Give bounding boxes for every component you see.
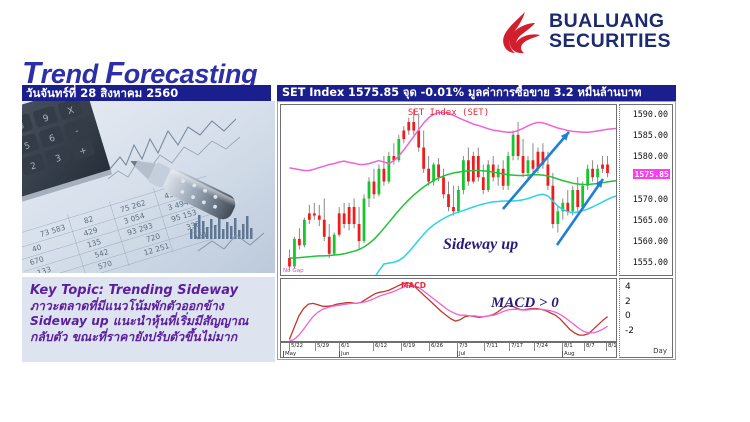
- date-tick: 5/29: [315, 343, 329, 351]
- no-gap-label: No Gap: [283, 268, 304, 274]
- date-tick: 6/26: [429, 343, 443, 351]
- price-axis: 1590.001585.001580.001570.001565.001560.…: [619, 104, 673, 276]
- macd-axis: Day 420-2: [619, 278, 673, 358]
- date-bar: วันจันทร์ที่ 28 สิงหาคม 2560: [22, 85, 271, 101]
- brand-logo: BUALUANG SECURITIES: [497, 8, 727, 58]
- date-tick: 6/19: [401, 343, 415, 351]
- date-tick: 5/22: [289, 343, 303, 351]
- date-tick: 7/3: [457, 343, 468, 351]
- month-tick: Jul: [457, 351, 466, 358]
- date-tick: 6/1: [339, 343, 350, 351]
- macd-title: MACD: [401, 281, 426, 290]
- set-index-bar: SET Index 1575.85 จุด -0.01% มูลค่าการซื…: [277, 85, 676, 101]
- bualuang-lotus-icon: [497, 10, 543, 56]
- date-tick: 8/15: [606, 343, 617, 351]
- macd-tick: 0: [625, 311, 631, 321]
- financial-report-photo: 789X 456- 123+ 73 5838275 262456 404293 …: [22, 101, 275, 273]
- date-tick: 7/24: [534, 343, 548, 351]
- price-tick: 1590.00: [633, 109, 668, 119]
- date-axis: 5/225/296/16/126/196/267/37/117/177/248/…: [280, 342, 617, 358]
- slide-root: BUALUANG SECURITIES Trend Forecasting วั…: [0, 0, 750, 422]
- macd-plot: [281, 279, 616, 341]
- chart-container[interactable]: SET Index (SET) Sideway up No Gap 1590.0…: [277, 101, 676, 360]
- month-tick: Jun: [339, 351, 349, 358]
- date-tick: 8/1: [562, 343, 573, 351]
- x-axis-unit-label: Day: [653, 347, 667, 355]
- month-tick: May: [283, 351, 296, 358]
- key-topic-line-4: กลับตัว ขณะที่ราคายังปรับตัวขึ้นไม่มาก: [30, 330, 267, 346]
- key-topic-box: Key Topic: Trending Sideway ภาวะตลาดที่ม…: [22, 277, 275, 362]
- macd-pane[interactable]: MACD MACD > 0: [280, 278, 617, 342]
- price-tick: 1565.00: [633, 215, 668, 225]
- price-chart-pane[interactable]: SET Index (SET) Sideway up No Gap: [280, 104, 617, 276]
- key-topic-heading: Key Topic: Trending Sideway: [30, 283, 267, 299]
- key-topic-line-2: ภาวะตลาดที่มีแนวโน้มพักตัวออกข้าง: [30, 299, 267, 315]
- annotation-sideway-up: Sideway up: [443, 236, 518, 254]
- date-tick: 7/11: [484, 343, 498, 351]
- date-tick: 7/17: [509, 343, 523, 351]
- price-tick: 1560.00: [633, 236, 668, 246]
- annotation-macd-positive: MACD > 0: [491, 295, 559, 312]
- macd-tick: -2: [625, 326, 634, 336]
- date-tick: 8/7: [584, 343, 595, 351]
- price-tick: 1580.00: [633, 151, 668, 161]
- last-price-marker: 1575.85: [633, 169, 670, 179]
- price-tick: 1555.00: [633, 257, 668, 267]
- brand-line-1: BUALUANG: [549, 12, 671, 32]
- macd-tick: 4: [625, 282, 631, 292]
- brand-line-2: SECURITIES: [549, 32, 671, 52]
- key-topic-line-3: Sideway up แนะนำหุ้นที่เริ่มมีสัญญาณ: [30, 314, 267, 330]
- brand-wordmark: BUALUANG SECURITIES: [549, 12, 671, 52]
- macd-tick: 2: [625, 297, 631, 307]
- chart-title: SET Index (SET): [408, 108, 489, 118]
- price-tick: 1570.00: [633, 194, 668, 204]
- price-tick: 1585.00: [633, 130, 668, 140]
- month-tick: Aug: [562, 351, 575, 358]
- date-tick: 6/12: [373, 343, 387, 351]
